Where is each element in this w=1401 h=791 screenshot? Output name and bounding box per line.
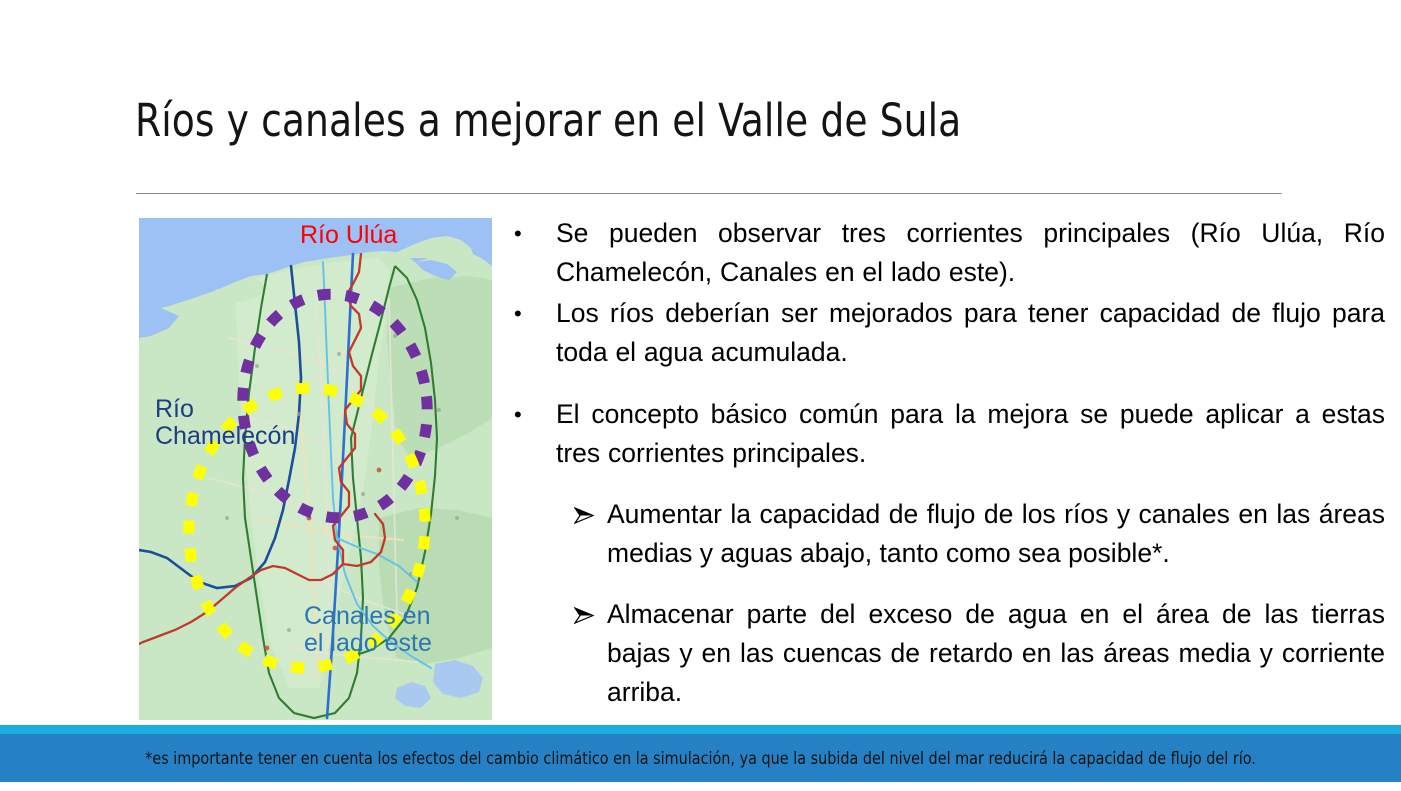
bullet-text: Se pueden observar tres corrientes princ… [556,214,1385,292]
map-label-canales-este: Canales en el lado este [304,603,432,657]
footer-accent-strip [0,725,1401,734]
arrow-marker-icon [505,495,607,524]
slide-canvas: Ríos y canales a mejorar en el Valle de … [0,0,1401,791]
footer-note: *es importante tener en cuenta los efect… [21,734,1380,782]
sub-bullet-text: Aumentar la capacidad de flujo de los rí… [607,495,1385,573]
chevron-arrow-icon [574,507,595,524]
sub-bullet-item: Aumentar la capacidad de flujo de los rí… [505,495,1385,573]
bullet-item: • El concepto básico común para la mejor… [505,395,1385,473]
bullet-item: • Se pueden observar tres corrientes pri… [505,214,1385,292]
title-divider [136,193,1282,194]
arrow-marker-icon [505,595,607,624]
map-label-rio-ulua: Río Ulúa [300,222,397,249]
bullet-marker-dot: • [505,214,556,253]
map-figure: Río Ulúa Río Chamelecón Canales en el la… [139,218,492,720]
page-title: Ríos y canales a mejorar en el Valle de … [135,96,1214,146]
sub-bullet-text: Almacenar parte del exceso de agua en el… [607,595,1385,712]
bullet-list: • Se pueden observar tres corrientes pri… [505,214,1385,712]
bullet-item: • Los ríos deberían ser mejorados para t… [505,294,1385,372]
sub-bullet-item: Almacenar parte del exceso de agua en el… [505,595,1385,712]
bullet-text: Los ríos deberían ser mejorados para ten… [556,294,1385,372]
bullet-text: El concepto básico común para la mejora … [556,395,1385,473]
bullet-marker-dot: • [505,395,556,434]
bullet-marker-dot: • [505,294,556,333]
chevron-arrow-icon [574,607,595,624]
map-label-rio-chamelecon: Río Chamelecón [155,396,295,450]
